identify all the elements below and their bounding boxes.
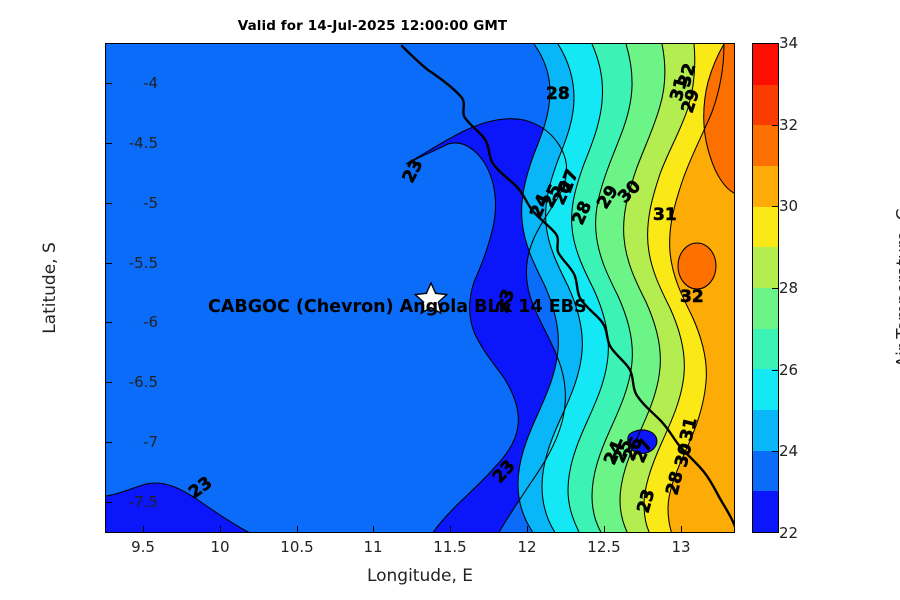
colorbar-tick-mark — [772, 370, 779, 371]
colorbar-tick-label: 32 — [779, 116, 798, 134]
x-tick-label: 9.5 — [131, 538, 155, 556]
colorbar-tick-label: 30 — [779, 197, 798, 215]
x-tick-label: 13 — [671, 538, 690, 556]
colorbar-tick-label: 34 — [779, 34, 798, 52]
colorbar-tick-label: 24 — [779, 442, 798, 460]
y-tick-label: -4 — [143, 74, 158, 92]
x-tick-mark — [373, 526, 374, 533]
colorbar-tick-mark — [772, 125, 779, 126]
x-tick-label: 11 — [363, 538, 382, 556]
colorbar-band-22-23 — [753, 491, 778, 532]
x-tick-mark — [143, 526, 144, 533]
colorbar-band-25-26 — [753, 369, 778, 410]
y-tick-mark — [105, 143, 112, 144]
y-tick-label: -6 — [143, 313, 158, 331]
y-tick-label: -7.5 — [129, 493, 158, 511]
colorbar-band-33-34 — [753, 44, 778, 85]
x-tick-mark — [527, 526, 528, 533]
y-tick-mark — [105, 83, 112, 84]
y-axis-label-wrap: Latitude, S — [6, 43, 34, 533]
y-tick-label: -6.5 — [129, 373, 158, 391]
x-axis-label: Longitude, E — [105, 566, 735, 586]
x-tick-mark — [220, 526, 221, 533]
colorbar-tick-mark — [772, 288, 779, 289]
y-tick-mark — [105, 502, 112, 503]
colorbar-tick-mark — [772, 206, 779, 207]
x-tick-label: 11.5 — [433, 538, 466, 556]
station-label: CABGOC (Chevron) Angola BLK 14 EBS — [208, 297, 587, 317]
colorbar-tick-label: 22 — [779, 524, 798, 542]
colorbar-band-31-32 — [753, 125, 778, 166]
y-tick-mark — [105, 203, 112, 204]
colorbar-tick-mark — [772, 451, 779, 452]
contour-label: 32 — [680, 287, 704, 307]
colorbar-band-24-25 — [753, 410, 778, 451]
y-tick-mark — [105, 382, 112, 383]
y-tick-mark — [105, 322, 112, 323]
colorbar-tick-label: 28 — [779, 279, 798, 297]
colorbar-band-28-29 — [753, 247, 778, 288]
figure-root: Valid for 14-Jul-2025 12:00:00 GMT — [0, 0, 900, 600]
colorbar-band-27-28 — [753, 288, 778, 329]
colorbar-band-26-27 — [753, 329, 778, 370]
y-tick-mark — [105, 263, 112, 264]
contour-map-svg: 23 23 23 23 23 24 25 26 27 28 28 29 29 3… — [106, 44, 735, 533]
y-axis-label: Latitude, S — [40, 242, 60, 334]
figure-title: Valid for 14-Jul-2025 12:00:00 GMT — [0, 18, 745, 34]
colorbar-band-32-33 — [753, 85, 778, 126]
y-tick-label: -5 — [143, 194, 158, 212]
colorbar-label-wrap: Air Temperature, C — [826, 43, 856, 533]
colorbar-tick-label: 26 — [779, 361, 798, 379]
x-tick-mark — [681, 526, 682, 533]
contour-label: 28 — [546, 84, 570, 104]
colorbar-label: Air Temperature, C — [894, 208, 900, 367]
x-tick-label: 12.5 — [587, 538, 620, 556]
y-tick-label: -5.5 — [129, 254, 158, 272]
contour-plot-area: 23 23 23 23 23 24 25 26 27 28 28 29 29 3… — [105, 43, 735, 533]
y-tick-mark — [105, 442, 112, 443]
y-tick-label: -7 — [143, 433, 158, 451]
colorbar-band-23-24 — [753, 451, 778, 492]
contour-label: 31 — [653, 205, 677, 225]
x-tick-label: 10 — [210, 538, 229, 556]
y-tick-label: -4.5 — [129, 134, 158, 152]
x-tick-mark — [604, 526, 605, 533]
x-tick-label: 10.5 — [280, 538, 313, 556]
x-tick-mark — [450, 526, 451, 533]
colorbar-band-30-31 — [753, 166, 778, 207]
x-tick-label: 12 — [517, 538, 536, 556]
colorbar-band-29-30 — [753, 207, 778, 248]
x-tick-mark — [297, 526, 298, 533]
